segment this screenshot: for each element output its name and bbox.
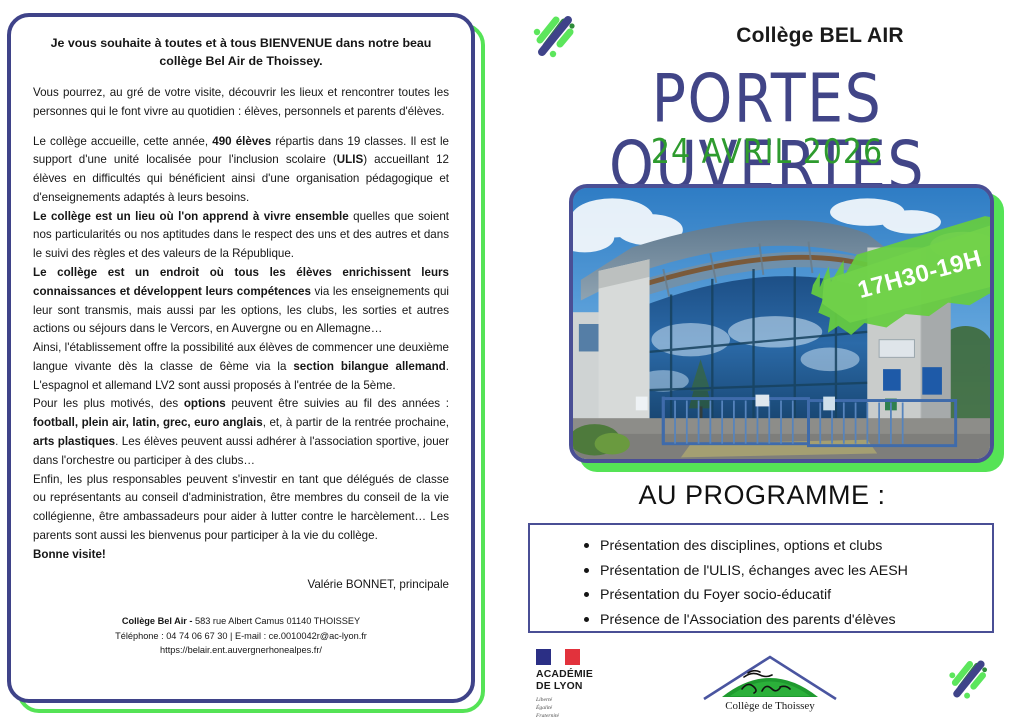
letter-body: Je vous souhaite à toutes et à tous BIEN… bbox=[33, 35, 449, 657]
footer-logos: ACADÉMIE DE LYON Liberté Égalité Fratern… bbox=[500, 645, 1024, 725]
letter-paragraph-1: Vous pourrez, au gré de votre visite, dé… bbox=[33, 84, 449, 122]
p5-bilangue: section bilangue allemand bbox=[293, 360, 445, 373]
event-date: 24 AVRIL 2026 bbox=[510, 136, 1024, 170]
list-item: Présentation du Foyer socio-éducatif bbox=[584, 583, 982, 608]
event-panel: Collège BEL AIR PORTES OUVERTES 24 AVRIL… bbox=[500, 0, 1024, 727]
p2-a: Le collège accueille, cette année, bbox=[33, 135, 212, 148]
programme-box: Présentation des disciplines, options et… bbox=[528, 523, 994, 633]
diagonal-stripes-icon bbox=[528, 10, 580, 62]
academie-name: ACADÉMIE DE LYON bbox=[536, 669, 626, 693]
p6-a: Pour les plus motivés, des bbox=[33, 397, 184, 410]
motto-fraternite: Fraternité bbox=[536, 712, 626, 720]
letter-card: Je vous souhaite à toutes et à tous BIEN… bbox=[7, 13, 475, 703]
letter-paragraph-6: Pour les plus motivés, des options peuve… bbox=[33, 395, 449, 470]
school-name-heading: Collège BEL AIR bbox=[620, 24, 1020, 48]
p6-options: options bbox=[184, 397, 226, 410]
college-logo-caption: Collège de Thoissey bbox=[725, 700, 815, 712]
french-flag-icon bbox=[536, 649, 580, 665]
contact-website[interactable]: https://belair.ent.auvergnerhonealpes.fr… bbox=[33, 643, 449, 657]
p6-c: peuvent être suivies au fil des années : bbox=[226, 397, 449, 410]
photo-frame: 17H30-19H bbox=[569, 184, 994, 463]
academie-name-line2: DE LYON bbox=[536, 681, 626, 693]
motto-liberte: Liberté bbox=[536, 696, 626, 704]
p2-ulis: ULIS bbox=[337, 153, 363, 166]
programme-list: Présentation des disciplines, options et… bbox=[584, 534, 982, 633]
list-item: Présentation des disciplines, options et… bbox=[584, 534, 982, 559]
poster-page: Je vous souhaite à toutes et à tous BIEN… bbox=[0, 0, 1024, 727]
flag-red-band bbox=[565, 649, 580, 665]
p3-bold: Le collège est un lieu où l'on apprend à… bbox=[33, 210, 349, 223]
letter-paragraph-3: Le collège est un lieu où l'on apprend à… bbox=[33, 208, 449, 264]
list-item: Présence de l'Association des parents d'… bbox=[584, 608, 982, 633]
letter-closing-text: Bonne visite! bbox=[33, 548, 106, 561]
letter-paragraph-7: Enfin, les plus responsables peuvent s'i… bbox=[33, 471, 449, 546]
diagonal-stripes-icon-footer bbox=[944, 655, 992, 708]
letter-signature: Valérie BONNET, principale bbox=[33, 576, 449, 595]
letter-closing: Bonne visite! bbox=[33, 546, 449, 565]
p6-option-list: football, plein air, latin, grec, euro a… bbox=[33, 416, 263, 429]
motto-egalite: Égalité bbox=[536, 704, 626, 712]
letter-paragraph-5: Ainsi, l'établissement offre la possibil… bbox=[33, 339, 449, 395]
republic-motto: Liberté Égalité Fraternité bbox=[536, 696, 626, 720]
p2-students-count: 490 élèves bbox=[212, 135, 271, 148]
contact-phone-email: Téléphone : 04 74 06 67 30 | E-mail : ce… bbox=[33, 629, 449, 643]
list-item: Présentation de l'ULIS, échanges avec le… bbox=[584, 559, 982, 584]
contact-address-line: Collège Bel Air - 583 rue Albert Camus 0… bbox=[33, 614, 449, 628]
letter-paragraph-4: Le collège est un endroit où tous les él… bbox=[33, 264, 449, 339]
college-bel-air-logo: Collège de Thoissey bbox=[700, 651, 840, 713]
academie-de-lyon-logo: ACADÉMIE DE LYON Liberté Égalité Fratern… bbox=[536, 649, 626, 720]
p6-e: , et, à partir de la rentrée prochaine, bbox=[263, 416, 449, 429]
flag-white-band bbox=[551, 649, 566, 665]
contact-address: 583 rue Albert Camus 01140 THOISSEY bbox=[195, 616, 360, 626]
principal-letter-panel: Je vous souhaite à toutes et à tous BIEN… bbox=[7, 13, 485, 713]
flag-blue-band bbox=[536, 649, 551, 665]
p6-arts: arts plastiques bbox=[33, 435, 115, 448]
contact-school-name: Collège Bel Air - bbox=[122, 616, 195, 626]
letter-paragraph-2: Le collège accueille, cette année, 490 é… bbox=[33, 133, 449, 208]
letter-heading: Je vous souhaite à toutes et à tous BIEN… bbox=[33, 35, 449, 71]
programme-heading: AU PROGRAMME : bbox=[512, 480, 1012, 511]
academie-name-line1: ACADÉMIE bbox=[536, 669, 626, 681]
contact-block: Collège Bel Air - 583 rue Albert Camus 0… bbox=[33, 614, 449, 657]
building-photo-block: 17H30-19H bbox=[569, 184, 1004, 472]
